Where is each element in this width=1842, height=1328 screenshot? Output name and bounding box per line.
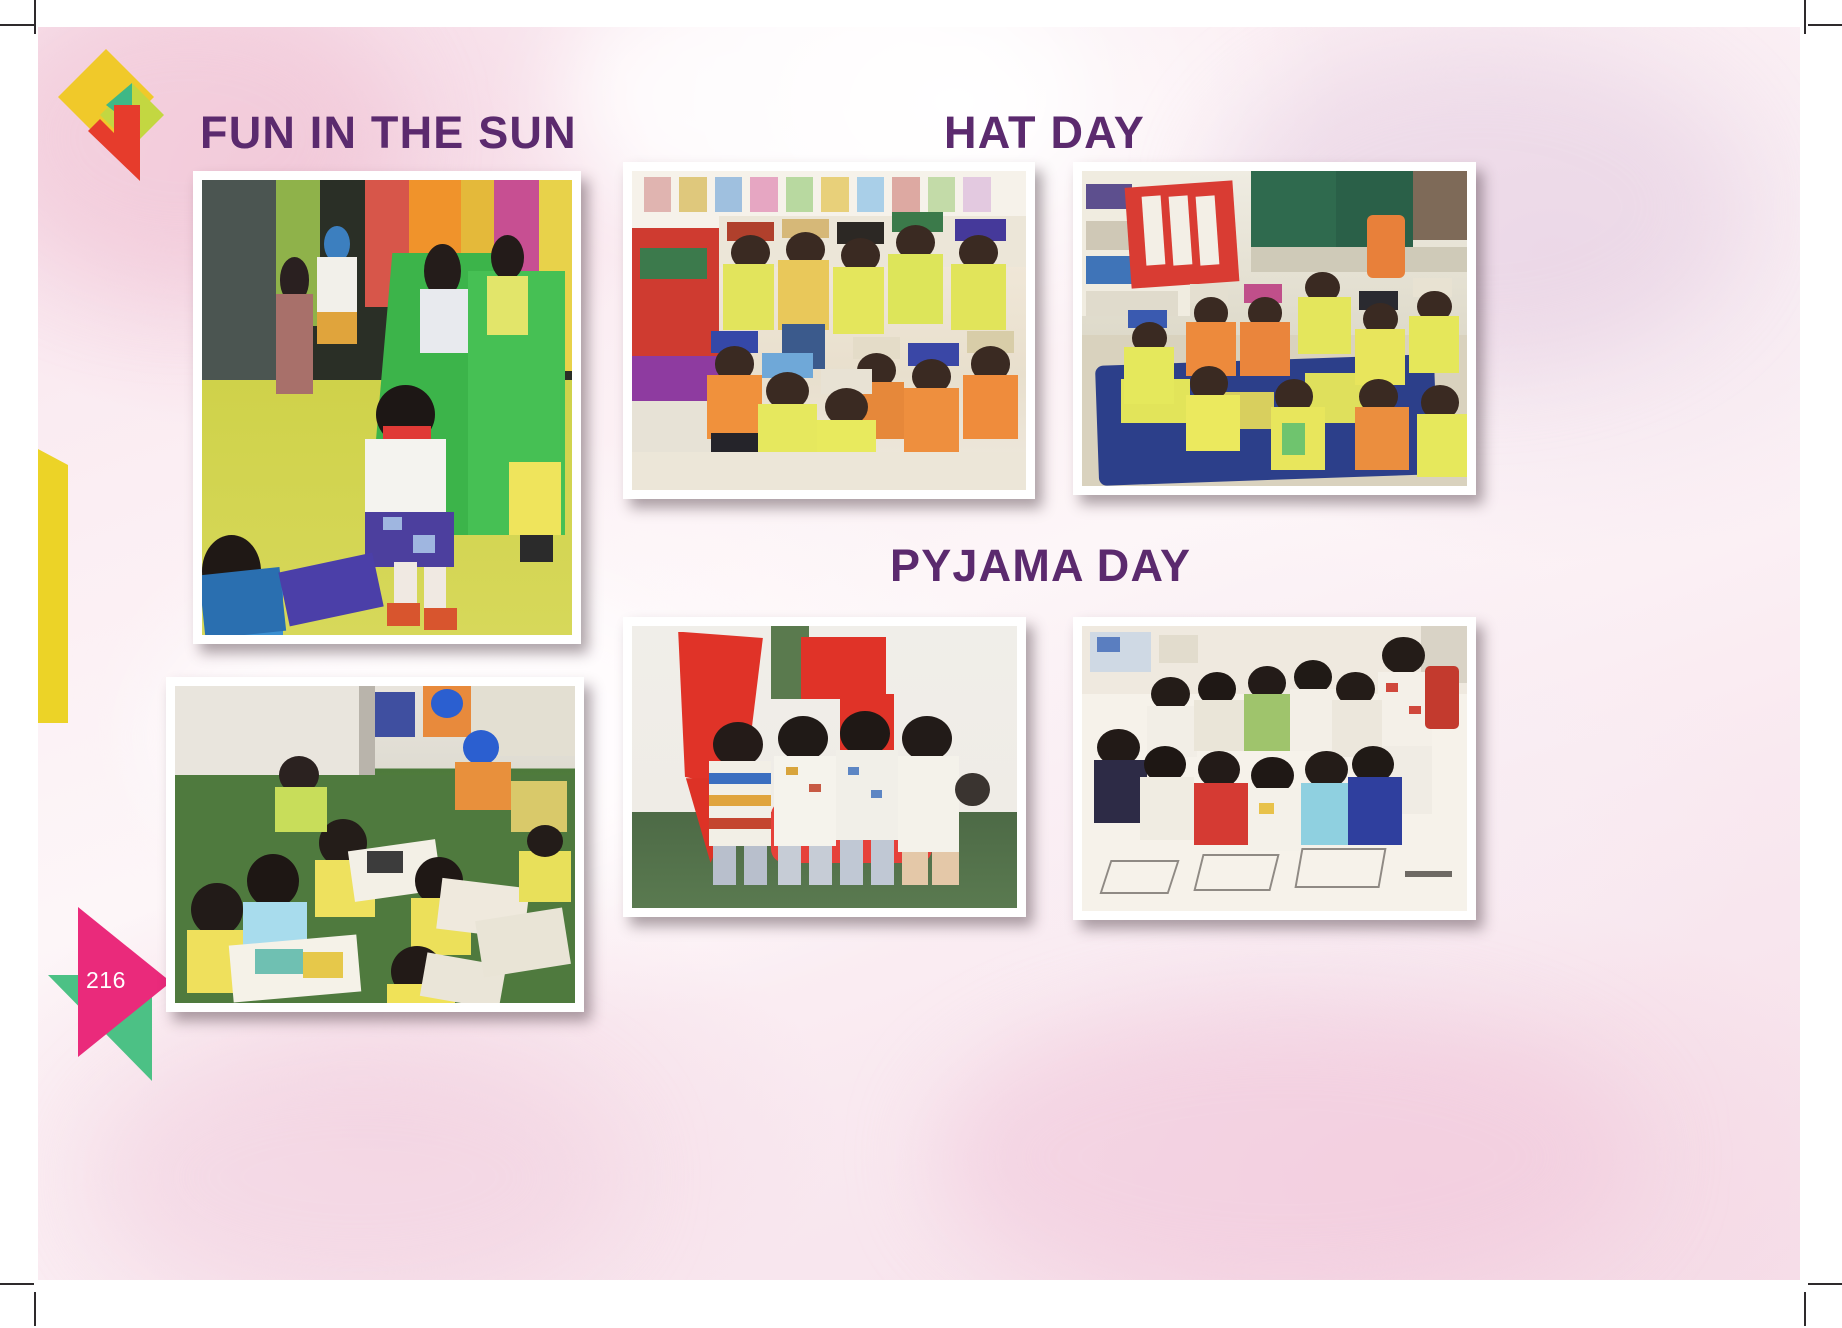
- section-title-fun-in-the-sun: FUN IN THE SUN: [200, 107, 577, 159]
- print-sheet: 216 FUN IN THE SUN HAT DAY PYJAMA DAY: [0, 0, 1842, 1328]
- crop-mark-bottom-right-horizontal: [1808, 1283, 1842, 1285]
- photo-image: [1082, 626, 1467, 911]
- page-number-flag: 216: [48, 907, 172, 1082]
- photo-hat-day-1: [623, 162, 1035, 499]
- crop-mark-bottom-left-horizontal: [0, 1283, 34, 1285]
- photo-fun-in-the-sun-1: [193, 171, 581, 644]
- photo-hat-day-2: [1073, 162, 1476, 495]
- photo-pyjama-day-1: [623, 617, 1026, 917]
- section-title-pyjama-day: PYJAMA DAY: [890, 540, 1191, 592]
- photo-image: [202, 180, 572, 635]
- watercolor-wash-6: [98, 1047, 618, 1280]
- crop-mark-top-left-vertical: [34, 0, 36, 34]
- watercolor-wash-5: [938, 1007, 1638, 1280]
- photo-image: [632, 626, 1017, 908]
- section-title-hat-day: HAT DAY: [944, 107, 1145, 159]
- crop-mark-bottom-right-vertical: [1804, 1292, 1806, 1326]
- photo-pyjama-day-2: [1073, 617, 1476, 920]
- crop-mark-top-right-vertical: [1804, 0, 1806, 34]
- crop-mark-top-right-horizontal: [1808, 24, 1842, 26]
- photo-fun-in-the-sun-2: [166, 677, 584, 1012]
- yearbook-page: 216 FUN IN THE SUN HAT DAY PYJAMA DAY: [38, 27, 1800, 1280]
- crop-mark-bottom-left-vertical: [34, 1292, 36, 1326]
- yellow-accent-bar: [38, 449, 68, 723]
- page-number: 216: [86, 967, 146, 994]
- photo-image: [175, 686, 575, 1003]
- photo-image: [1082, 171, 1467, 486]
- school-logo: [48, 45, 166, 185]
- photo-image: [632, 171, 1026, 490]
- crop-mark-top-left-horizontal: [0, 24, 34, 26]
